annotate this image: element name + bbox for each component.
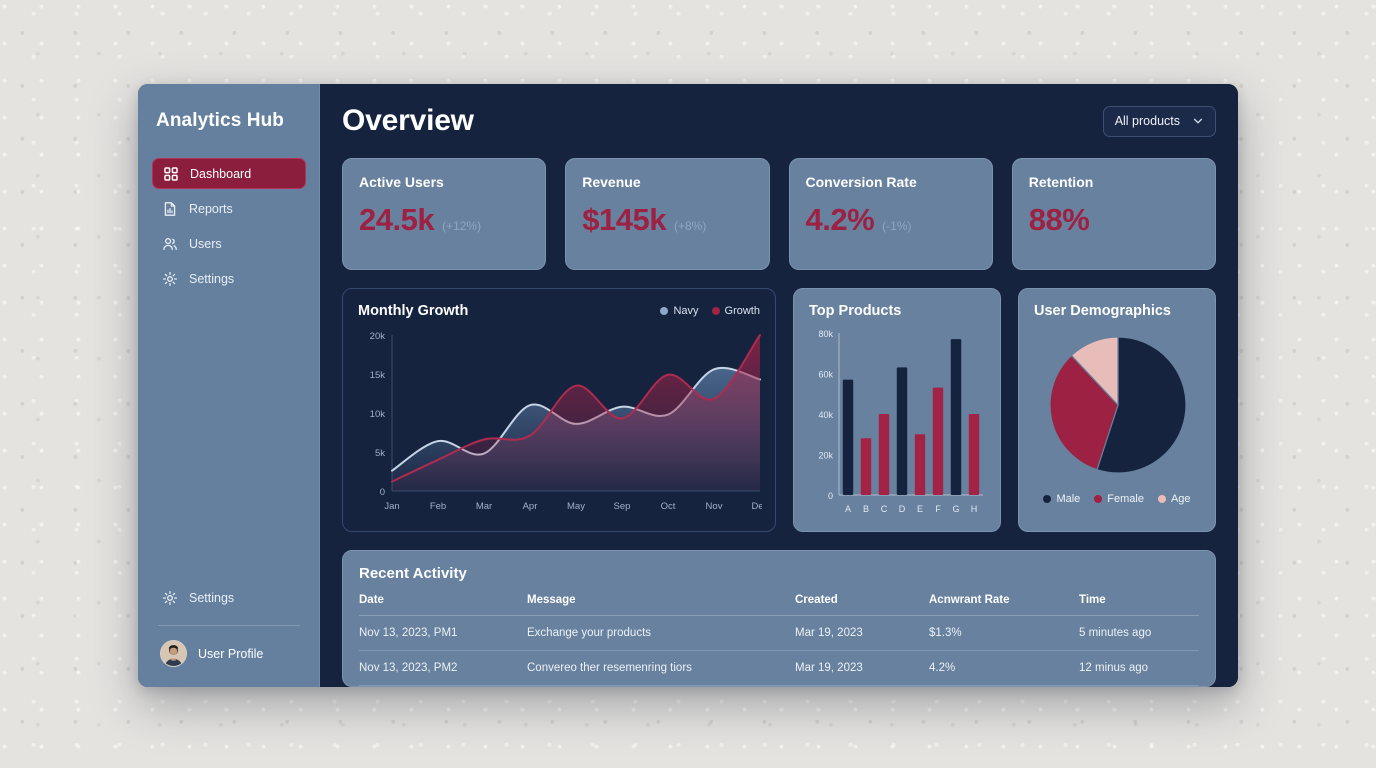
table-title: Recent Activity [359, 565, 1199, 582]
cell-rate: $1.3% [929, 616, 1079, 651]
kpi-label: Active Users [359, 174, 529, 190]
sidebar-item-dashboard[interactable]: Dashboard [152, 158, 306, 189]
svg-text:F: F [935, 504, 941, 514]
legend-item-navy: Navy [660, 305, 698, 317]
legend-label: Age [1171, 493, 1191, 505]
panel-monthly-growth: Monthly Growth Navy Growth 05k10k15k20kJ… [342, 288, 776, 532]
svg-text:Mar: Mar [476, 501, 492, 512]
cell-created: Mar 19, 2023 [795, 616, 929, 651]
panel-top-products: Top Products 020k40k60k80kABCDEFGH [793, 288, 1001, 532]
svg-text:0: 0 [828, 491, 833, 501]
product-filter-value: All products [1115, 114, 1180, 128]
cell-message: Convereo ther resemenring tiors [527, 651, 795, 686]
panel-title: Monthly Growth [358, 303, 468, 319]
gear-icon [162, 590, 178, 606]
svg-text:H: H [971, 504, 978, 514]
svg-text:D: D [899, 504, 906, 514]
svg-text:Sep: Sep [614, 501, 631, 512]
document-chart-icon [162, 201, 178, 217]
recent-activity-panel: Recent Activity Date Message Created Acn… [342, 550, 1216, 687]
svg-text:May: May [567, 501, 585, 512]
legend-item-growth: Growth [712, 305, 760, 317]
legend-item-female: Female [1094, 493, 1144, 505]
kpi-label: Retention [1029, 174, 1199, 190]
svg-text:Nov: Nov [706, 501, 723, 512]
legend-swatch [1043, 495, 1051, 503]
pie-legend: Male Female Age [1034, 493, 1200, 505]
column-header-created[interactable]: Created [795, 594, 929, 616]
svg-text:0: 0 [380, 487, 385, 498]
table-header-row: Date Message Created Acnwrant Rate Time [359, 594, 1199, 616]
product-filter-dropdown[interactable]: All products [1103, 106, 1216, 137]
cell-time: 5 minutes ago [1079, 616, 1199, 651]
user-demographics-chart [1034, 327, 1202, 487]
monthly-growth-chart: 05k10k15k20kJanFebMarAprMaySepOctNovDec [358, 327, 762, 517]
table-row[interactable]: Nov 13, 2023, PM2 Convereo ther resemenr… [359, 651, 1199, 686]
sidebar-footer-settings[interactable]: Settings [152, 582, 306, 613]
chart-legend: Navy Growth [660, 305, 760, 317]
kpi-delta: (+8%) [674, 219, 706, 233]
kpi-card-conversion-rate: Conversion Rate 4.2% (-1%) [789, 158, 993, 270]
table-body: Nov 13, 2023, PM1 Exchange your products… [359, 616, 1199, 686]
svg-text:Oct: Oct [661, 501, 676, 512]
users-icon [162, 236, 178, 252]
svg-text:60k: 60k [818, 370, 833, 380]
cell-message: Exchange your products [527, 616, 795, 651]
sidebar: Analytics Hub Dashboard [138, 84, 320, 687]
gear-icon [162, 271, 178, 287]
sidebar-item-users[interactable]: Users [152, 228, 306, 259]
svg-text:Feb: Feb [430, 501, 446, 512]
sidebar-item-reports[interactable]: Reports [152, 193, 306, 224]
chevron-down-icon [1192, 115, 1204, 127]
grid-icon [163, 166, 179, 182]
sidebar-footer: Settings User Profile [152, 582, 306, 671]
cell-rate: 4.2% [929, 651, 1079, 686]
column-header-date[interactable]: Date [359, 594, 527, 616]
column-header-message[interactable]: Message [527, 594, 795, 616]
column-header-time[interactable]: Time [1079, 594, 1199, 616]
panel-title: User Demographics [1034, 303, 1171, 319]
sidebar-nav: Dashboard Reports [152, 158, 306, 294]
svg-text:80k: 80k [818, 329, 833, 339]
legend-swatch [1094, 495, 1102, 503]
activity-table: Date Message Created Acnwrant Rate Time … [359, 594, 1199, 686]
table-row[interactable]: Nov 13, 2023, PM1 Exchange your products… [359, 616, 1199, 651]
kpi-value: 24.5k [359, 204, 434, 235]
table-header: Date Message Created Acnwrant Rate Time [359, 594, 1199, 616]
sidebar-item-settings[interactable]: Settings [152, 263, 306, 294]
charts-row: Monthly Growth Navy Growth 05k10k15k20kJ… [342, 288, 1216, 532]
legend-label: Growth [725, 305, 760, 317]
kpi-delta: (+12%) [442, 219, 481, 233]
legend-swatch [660, 307, 668, 315]
kpi-value: 88% [1029, 204, 1090, 235]
legend-label: Female [1107, 493, 1144, 505]
kpi-cards: Active Users 24.5k (+12%) Revenue $145k … [342, 158, 1216, 270]
panel-user-demographics: User Demographics Male Female Age [1018, 288, 1216, 532]
svg-text:Dec: Dec [752, 501, 762, 512]
kpi-label: Conversion Rate [806, 174, 976, 190]
page-title: Overview [342, 104, 474, 138]
sidebar-divider [158, 625, 300, 626]
kpi-card-active-users: Active Users 24.5k (+12%) [342, 158, 546, 270]
legend-label: Male [1056, 493, 1080, 505]
cell-date: Nov 13, 2023, PM1 [359, 616, 527, 651]
kpi-card-retention: Retention 88% [1012, 158, 1216, 270]
svg-text:20k: 20k [818, 451, 833, 461]
legend-label: Navy [673, 305, 698, 317]
page-header: Overview All products [342, 104, 1216, 138]
cell-time: 12 minus ago [1079, 651, 1199, 686]
svg-text:10k: 10k [370, 409, 386, 420]
main-content: Overview All products Active Users 24.5k… [320, 84, 1238, 687]
legend-swatch [712, 307, 720, 315]
kpi-value: $145k [582, 204, 666, 235]
column-header-rate[interactable]: Acnwrant Rate [929, 594, 1079, 616]
kpi-card-revenue: Revenue $145k (+8%) [565, 158, 769, 270]
svg-text:C: C [881, 504, 888, 514]
cell-date: Nov 13, 2023, PM2 [359, 651, 527, 686]
legend-swatch [1158, 495, 1166, 503]
sidebar-footer-settings-label: Settings [189, 591, 234, 605]
svg-text:Apr: Apr [523, 501, 538, 512]
sidebar-item-label: Users [189, 237, 222, 251]
sidebar-spacer [152, 294, 306, 582]
sidebar-item-label: Dashboard [190, 167, 251, 181]
panel-title: Top Products [809, 303, 901, 319]
svg-text:A: A [845, 504, 851, 514]
svg-text:Jan: Jan [384, 501, 399, 512]
svg-text:15k: 15k [370, 370, 386, 381]
svg-text:5k: 5k [375, 448, 385, 459]
kpi-label: Revenue [582, 174, 752, 190]
svg-text:E: E [917, 504, 923, 514]
svg-text:G: G [952, 504, 959, 514]
user-profile-label: User Profile [198, 647, 263, 661]
top-products-chart: 020k40k60k80kABCDEFGH [809, 327, 987, 519]
cell-created: Mar 19, 2023 [795, 651, 929, 686]
svg-text:20k: 20k [370, 331, 386, 342]
legend-item-age: Age [1158, 493, 1191, 505]
sidebar-item-label: Reports [189, 202, 233, 216]
app-window: Analytics Hub Dashboard [138, 84, 1238, 687]
app-brand-title: Analytics Hub [152, 106, 306, 132]
svg-text:B: B [863, 504, 869, 514]
legend-item-male: Male [1043, 493, 1080, 505]
svg-text:40k: 40k [818, 410, 833, 420]
sidebar-item-label: Settings [189, 272, 234, 286]
kpi-delta: (-1%) [882, 219, 911, 233]
avatar [160, 640, 187, 667]
user-profile-row[interactable]: User Profile [152, 640, 306, 671]
kpi-value: 4.2% [806, 204, 875, 235]
